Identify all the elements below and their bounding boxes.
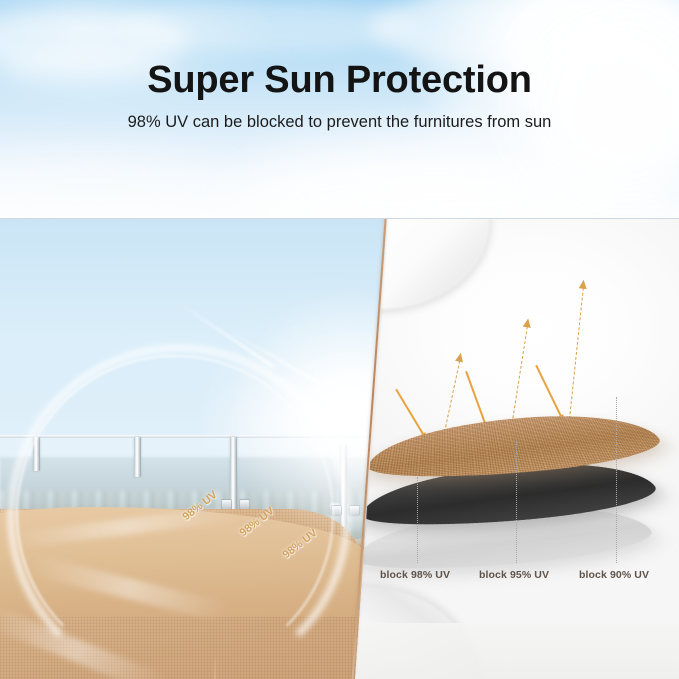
diagram-floor: [355, 623, 679, 679]
layer-leader-line: [616, 397, 617, 563]
layer-label-bottom: block 90% UV: [579, 569, 649, 581]
patio-scene: 98% UV 98% UV 98% UV: [0, 219, 392, 679]
feature-photo-band: 98% UV 98% UV 98% UV: [0, 218, 679, 679]
fabric-layer-diagram: block 98% UV block 95% UV block 90% UV: [355, 219, 679, 679]
reflected-uv-arrow: [569, 288, 584, 419]
layer-leader-line: [516, 441, 517, 563]
incoming-uv-arrow: [535, 364, 563, 417]
product-feature-image: Super Sun Protection 98% UV can be block…: [0, 0, 679, 679]
page-subtitle: 98% UV can be blocked to prevent the fur…: [0, 109, 679, 135]
incoming-uv-arrow: [395, 388, 425, 436]
page-title: Super Sun Protection: [0, 58, 679, 102]
layer-leader-line: [417, 477, 418, 563]
cloud-shape: [0, 150, 240, 218]
paper-curl-top: [369, 219, 489, 309]
layer-label-middle: block 95% UV: [479, 569, 549, 581]
incoming-uv-arrow: [465, 371, 488, 428]
layer-label-top: block 98% UV: [380, 569, 450, 581]
